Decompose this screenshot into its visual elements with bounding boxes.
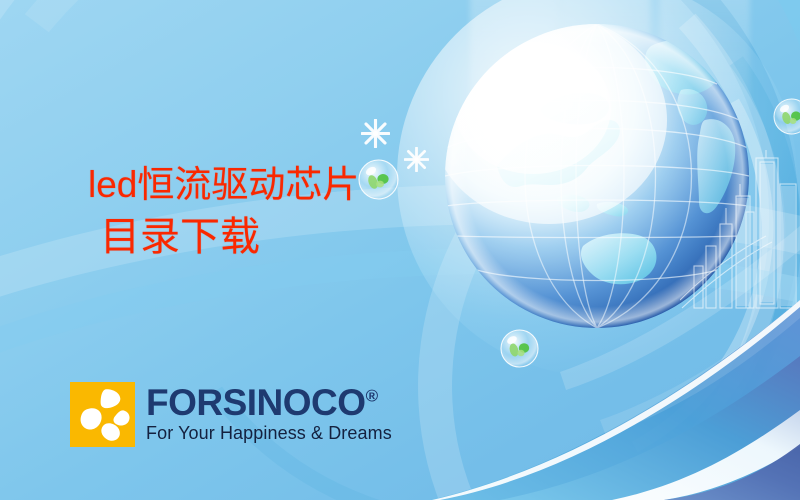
- headline-line-1: led恒流驱动芯片: [88, 162, 418, 208]
- headline-line-2: 目录下载: [88, 208, 418, 266]
- registered-trademark-icon: ®: [366, 387, 378, 406]
- ribbon-steel-corner: [664, 444, 800, 500]
- ribbon-blue-upper: [430, 300, 800, 500]
- headline-text: led恒流驱动芯片 目录下载: [88, 162, 418, 266]
- logo-wordmark: FORSINOCO®: [146, 384, 392, 422]
- globe-specular-highlight: [437, 16, 667, 224]
- logo-text-lockup: FORSINOCO® For Your Happiness & Dreams: [146, 384, 392, 444]
- landmass-australia: [581, 233, 656, 284]
- background-light-band-3: [660, 0, 750, 150]
- landmass-indonesia: [597, 202, 628, 217]
- promotional-banner: led恒流驱动芯片 目录下载 FORSINOCO® For Your Happi…: [0, 0, 800, 500]
- landmass-se-asia: [557, 194, 589, 212]
- ribbon-white-thin: [432, 300, 800, 500]
- landmass-south-america: [697, 119, 735, 213]
- bubble-leaf-2: [500, 329, 539, 368]
- sparkle-star-1: [361, 119, 390, 148]
- globe-outer-glow: [397, 0, 797, 376]
- ribbon-blue-mid: [500, 356, 800, 500]
- forsinoco-logo: FORSINOCO® For Your Happiness & Dreams: [70, 382, 392, 447]
- globe-rim-light: [445, 24, 749, 328]
- landmass-eurasia: [497, 120, 620, 187]
- background-light-band-2: [560, 0, 650, 190]
- globe-illustration: [437, 16, 757, 336]
- landmass-siberia: [541, 93, 609, 125]
- globe-longitude-lines: [525, 24, 692, 328]
- globe-latitude-lines: [445, 68, 749, 281]
- ribbon-light-streak-2: [600, 300, 800, 436]
- bubble-leaf-3: [773, 98, 800, 135]
- logo-wordmark-text: FORSINOCO: [146, 382, 366, 423]
- logo-tagline: For Your Happiness & Dreams: [146, 422, 392, 444]
- ribbon-light-streak-1: [560, 226, 800, 390]
- city-skyline-silhouette: [680, 150, 800, 320]
- pinwheel-icon: [70, 382, 135, 447]
- globe-specular-core: [455, 42, 611, 174]
- ribbon-white-wide: [612, 410, 800, 500]
- landmass-north-america: [645, 40, 720, 95]
- forsinoco-pinwheel-mark: [70, 382, 135, 447]
- globe-svg: [437, 16, 757, 336]
- landmass-central-america: [677, 89, 707, 125]
- background-light-band-1: [470, 0, 560, 270]
